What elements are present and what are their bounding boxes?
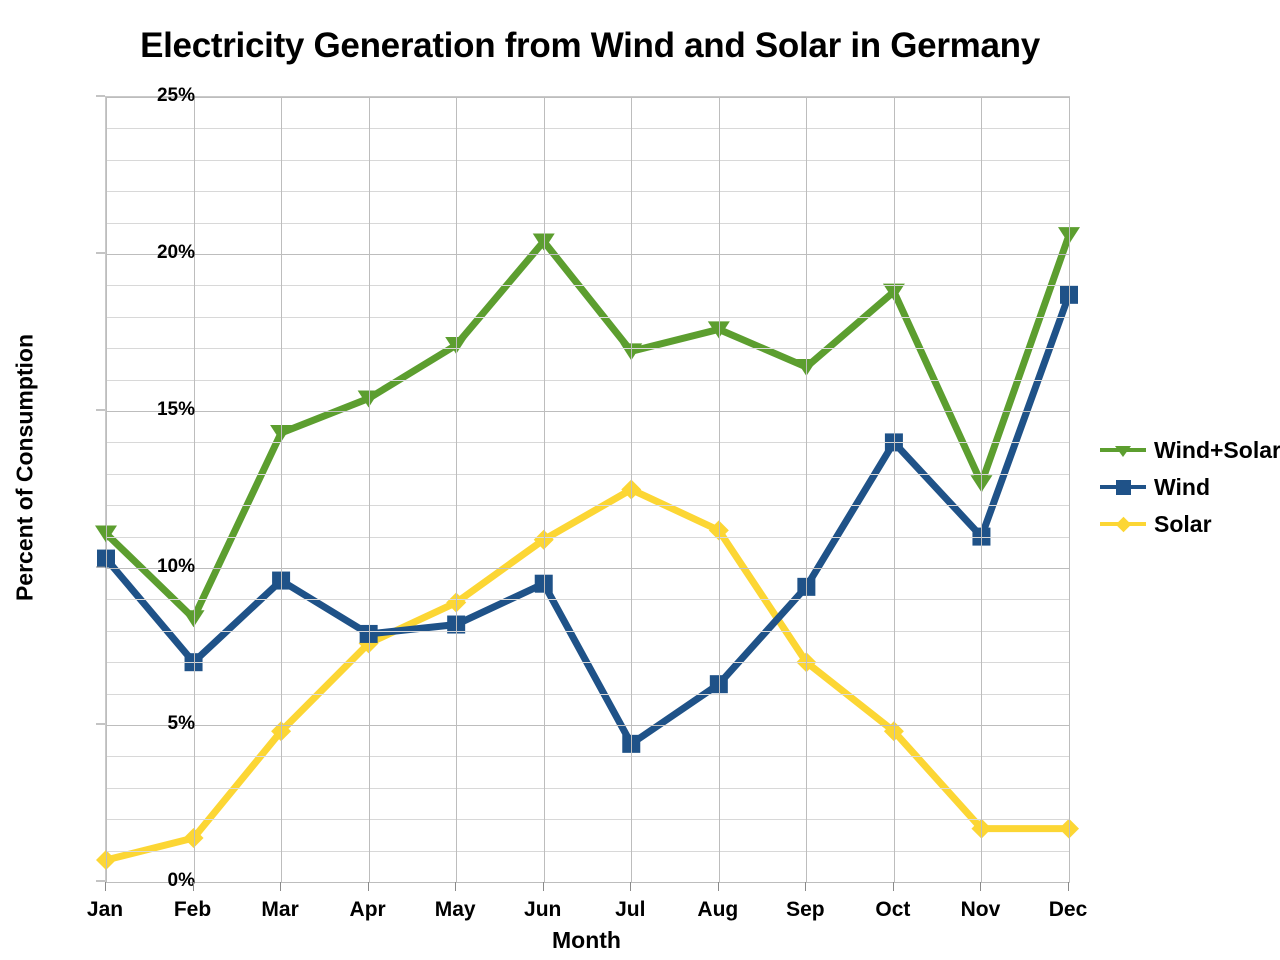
x-axis-tick-mark xyxy=(1068,882,1069,891)
gridline-minor-horizontal xyxy=(106,537,1069,538)
gridline-major-horizontal xyxy=(106,725,1069,726)
gridline-vertical xyxy=(894,97,895,882)
x-axis-title: Month xyxy=(105,927,1068,954)
gridline-vertical xyxy=(631,97,632,882)
x-axis-tick-mark xyxy=(105,882,106,891)
x-axis-tick-mark xyxy=(805,882,806,891)
gridline-minor-horizontal xyxy=(106,317,1069,318)
gridline-vertical xyxy=(194,97,195,882)
series-line xyxy=(106,235,1069,618)
gridline-minor-horizontal xyxy=(106,631,1069,632)
triangle-down-marker-icon xyxy=(1115,446,1131,457)
gridline-vertical xyxy=(544,97,545,882)
x-axis-tick-mark xyxy=(980,882,981,891)
gridline-vertical xyxy=(1069,97,1070,882)
gridline-major-horizontal xyxy=(106,882,1069,883)
x-axis-tick-label: Nov xyxy=(961,898,1001,922)
y-axis-tick-label: 15% xyxy=(157,399,195,421)
y-axis-tick-mark xyxy=(96,410,105,411)
gridline-vertical xyxy=(369,97,370,882)
gridline-vertical xyxy=(281,97,282,882)
plot-area xyxy=(105,96,1070,883)
gridline-minor-horizontal xyxy=(106,474,1069,475)
series-line xyxy=(106,490,1069,861)
chart-container: Electricity Generation from Wind and Sol… xyxy=(0,0,1280,960)
legend-item-solar[interactable]: Solar xyxy=(1100,511,1280,537)
chart-title: Electricity Generation from Wind and Sol… xyxy=(0,26,1180,66)
gridline-major-horizontal xyxy=(106,411,1069,412)
x-axis-tick-label: Oct xyxy=(875,898,910,922)
legend-label: Solar xyxy=(1154,511,1212,538)
x-axis-tick-mark xyxy=(280,882,281,891)
chart-legend: Wind+SolarWindSolar xyxy=(1100,437,1280,537)
series-solar xyxy=(96,480,1079,871)
gridline-minor-horizontal xyxy=(106,851,1069,852)
x-axis-tick-label: Jun xyxy=(524,898,561,922)
gridline-minor-horizontal xyxy=(106,694,1069,695)
legend-label: Wind xyxy=(1154,474,1210,501)
x-axis-tick-mark xyxy=(193,882,194,891)
x-axis-tick-label: Jul xyxy=(615,898,645,922)
gridline-vertical xyxy=(719,97,720,882)
gridline-minor-horizontal xyxy=(106,348,1069,349)
y-axis-tick-mark xyxy=(96,567,105,568)
diamond-marker-icon xyxy=(1115,516,1131,532)
x-axis-tick-mark xyxy=(893,882,894,891)
y-axis-title: Percent of Consumption xyxy=(12,298,39,638)
y-axis-tick-label: 5% xyxy=(168,713,195,735)
x-axis-tick-label: Feb xyxy=(174,898,211,922)
gridline-major-horizontal xyxy=(106,568,1069,569)
gridline-minor-horizontal xyxy=(106,505,1069,506)
x-axis-tick-label: Sep xyxy=(786,898,825,922)
x-axis-tick-label: Jan xyxy=(87,898,123,922)
legend-label: Wind+Solar xyxy=(1154,437,1280,464)
square-marker-icon xyxy=(1116,480,1131,495)
legend-swatch xyxy=(1100,513,1146,535)
series-lines xyxy=(106,97,1069,882)
x-axis-tick-mark xyxy=(368,882,369,891)
legend-swatch xyxy=(1100,476,1146,498)
y-axis-tick-mark xyxy=(96,253,105,254)
gridline-minor-horizontal xyxy=(106,442,1069,443)
x-axis-tick-label: Aug xyxy=(697,898,738,922)
gridline-vertical xyxy=(106,97,107,882)
gridline-vertical xyxy=(806,97,807,882)
x-axis-tick-mark xyxy=(630,882,631,891)
x-axis-tick-label: Apr xyxy=(350,898,386,922)
gridline-minor-horizontal xyxy=(106,191,1069,192)
x-axis-tick-mark xyxy=(455,882,456,891)
legend-item-wind-plus-solar[interactable]: Wind+Solar xyxy=(1100,437,1280,463)
gridline-minor-horizontal xyxy=(106,599,1069,600)
x-axis-tick-label: May xyxy=(435,898,476,922)
gridline-major-horizontal xyxy=(106,254,1069,255)
gridline-minor-horizontal xyxy=(106,285,1069,286)
legend-swatch xyxy=(1100,439,1146,461)
y-axis-tick-label: 25% xyxy=(157,85,195,107)
y-axis-tick-mark xyxy=(96,881,105,882)
gridline-major-horizontal xyxy=(106,97,1069,98)
y-axis-tick-mark xyxy=(96,724,105,725)
gridline-minor-horizontal xyxy=(106,160,1069,161)
y-axis-tick-label: 20% xyxy=(157,242,195,264)
gridline-minor-horizontal xyxy=(106,662,1069,663)
x-axis-tick-label: Dec xyxy=(1049,898,1088,922)
gridline-minor-horizontal xyxy=(106,819,1069,820)
y-axis-tick-mark xyxy=(96,96,105,97)
gridline-vertical xyxy=(981,97,982,882)
legend-item-wind[interactable]: Wind xyxy=(1100,474,1280,500)
x-axis-tick-label: Mar xyxy=(261,898,298,922)
x-axis-tick-mark xyxy=(718,882,719,891)
gridline-minor-horizontal xyxy=(106,380,1069,381)
gridline-minor-horizontal xyxy=(106,756,1069,757)
y-axis-tick-label: 10% xyxy=(157,556,195,578)
y-axis-tick-label: 0% xyxy=(168,870,195,892)
gridline-minor-horizontal xyxy=(106,788,1069,789)
x-axis-tick-mark xyxy=(543,882,544,891)
gridline-minor-horizontal xyxy=(106,223,1069,224)
gridline-vertical xyxy=(456,97,457,882)
gridline-minor-horizontal xyxy=(106,128,1069,129)
